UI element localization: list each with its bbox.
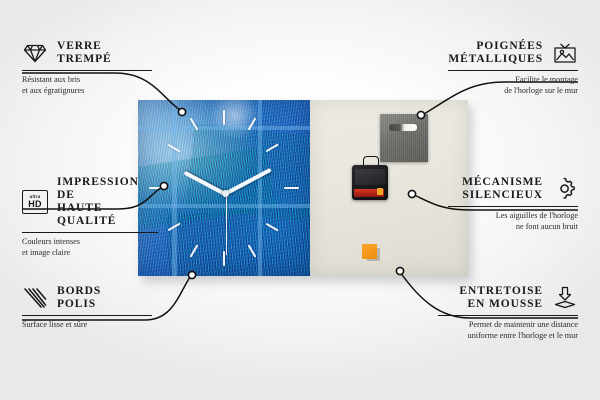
arrow-down-onto-pad-icon: [552, 285, 578, 311]
callout-header: POIGNÉES MÉTALLIQUES: [448, 40, 578, 66]
callout-polished-edges: BORDS POLIS Surface lisse et sûre: [22, 285, 152, 331]
product-composite: [138, 100, 468, 278]
metal-hanger-plate: [380, 114, 428, 162]
callout-divider: [438, 315, 578, 316]
callout-foam-spacer: ENTRETOISE EN MOUSSE Permet de maintenir…: [438, 285, 578, 341]
ultra-hd-icon: ultra HD: [22, 189, 48, 215]
hour-hand: [183, 171, 225, 196]
callout-title: POIGNÉES MÉTALLIQUES: [448, 40, 543, 66]
callout-header: ENTRETOISE EN MOUSSE: [438, 285, 578, 311]
hour-marker: [190, 244, 199, 257]
callout-divider: [22, 315, 152, 316]
print-grid-line: [138, 126, 310, 130]
callout-header: MÉCANISME SILENCIEUX: [448, 176, 578, 202]
print-grid-line: [138, 204, 310, 208]
hour-marker: [248, 244, 257, 257]
callout-header: VERRE TREMPÉ: [22, 40, 152, 66]
callout-divider: [448, 206, 578, 207]
callout-divider: [22, 232, 158, 233]
callout-tempered-glass: VERRE TREMPÉ Résistant aux bris et aux é…: [22, 40, 152, 96]
callout-description: Facilite le montage de l'horloge sur le …: [448, 75, 578, 96]
mechanism-top-panel: [355, 169, 385, 185]
callout-header: ultra HD IMPRESSION DE HAUTE QUALITÉ: [22, 176, 158, 228]
hour-marker: [266, 143, 279, 152]
diamond-icon: [22, 40, 48, 66]
callout-title: MÉCANISME SILENCIEUX: [462, 176, 543, 202]
hanger-keyhole-slot: [389, 124, 417, 131]
callout-divider: [22, 70, 152, 71]
callout-title: IMPRESSION DE HAUTE QUALITÉ: [57, 176, 158, 228]
callout-description: Les aiguilles de l'horloge ne font aucun…: [448, 211, 578, 232]
callout-title: ENTRETOISE EN MOUSSE: [459, 285, 543, 311]
callout-description: Couleurs intenses et image claire: [22, 237, 158, 258]
battery-plus-terminal: [377, 188, 383, 195]
callout-divider: [448, 70, 578, 71]
callout-metal-handles: POIGNÉES MÉTALLIQUES Facilite le montage…: [448, 40, 578, 96]
second-hand: [226, 193, 228, 255]
callout-description: Résistant aux bris et aux égratignures: [22, 75, 152, 96]
minute-hand: [224, 168, 272, 196]
callout-print-quality: ultra HD IMPRESSION DE HAUTE QUALITÉ Cou…: [22, 176, 158, 258]
clock-back-panel: [310, 100, 468, 276]
infographic-canvas: VERRE TREMPÉ Résistant aux bris et aux é…: [0, 0, 600, 400]
picture-frame-icon: [552, 40, 578, 66]
clock-mechanism: [352, 162, 388, 200]
callout-header: BORDS POLIS: [22, 285, 152, 311]
callout-description: Surface lisse et sûre: [22, 320, 152, 331]
callout-silent-mechanism: MÉCANISME SILENCIEUX Les aiguilles de l'…: [448, 176, 578, 232]
callout-title: BORDS POLIS: [57, 285, 101, 311]
hour-marker: [266, 222, 279, 231]
wave-pattern-c: [166, 205, 310, 276]
mechanism-body: [352, 165, 388, 200]
polished-edge-lines-icon: [22, 285, 48, 311]
ultra-hd-icon-label: HD: [28, 200, 41, 209]
callout-title: VERRE TREMPÉ: [57, 40, 112, 66]
gear-icon: [552, 176, 578, 202]
hand-center-cap: [222, 190, 229, 197]
foam-spacer: [362, 244, 377, 259]
hour-marker: [284, 187, 299, 189]
callout-description: Permet de maintenir une distance uniform…: [438, 320, 578, 341]
clock-front-glass: [138, 100, 310, 276]
battery: [354, 189, 384, 197]
